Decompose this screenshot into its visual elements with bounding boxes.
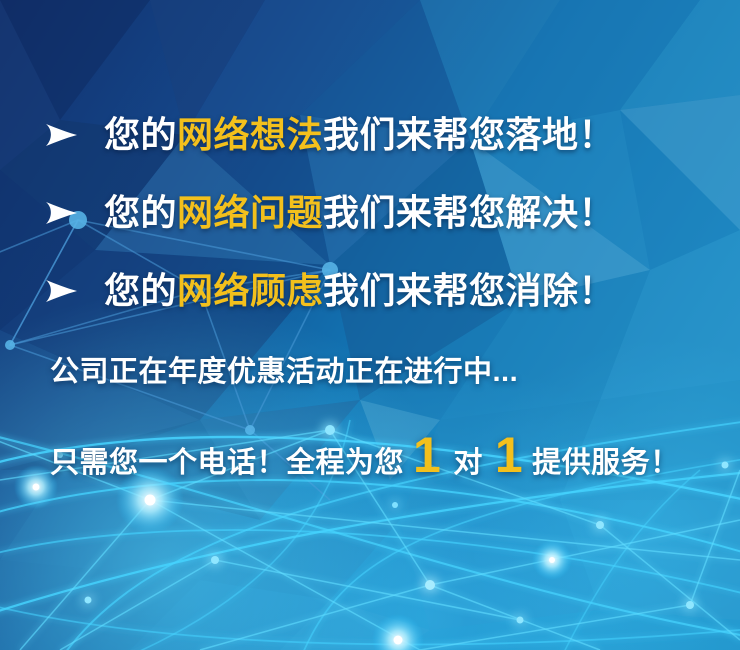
list-item: 您的网络想法我们来帮您落地！ [0,96,740,174]
arrow-right-icon [44,278,78,304]
promotion-headline: 公司正在年度优惠活动正在进行中... [50,358,740,387]
arrow-right-icon [44,122,78,148]
bullet-highlight: 网络顾虑 [177,270,323,311]
bullet-highlight: 网络想法 [177,114,323,155]
bullet-suffix: 我们来帮您消除！ [323,270,615,311]
bullet-prefix: 您的 [104,114,177,155]
banner-content: 您的网络想法我们来帮您落地！ 您的网络问题我们来帮您解决！ 您的网络顾虑我们来帮… [0,0,740,650]
promotion-service-text: 提供服务！ [532,449,680,478]
list-item: 您的网络顾虑我们来帮您消除！ [0,252,740,330]
promotion-block: 公司正在年度优惠活动正在进行中... 只需您一个电话！全程为您 1 对 1 提供… [50,358,740,480]
one-to-one-first-number: 1 [404,430,450,480]
bullet-highlight: 网络问题 [177,192,323,233]
promo-banner: 您的网络想法我们来帮您落地！ 您的网络问题我们来帮您解决！ 您的网络顾虑我们来帮… [0,0,740,650]
list-item: 您的网络问题我们来帮您解决！ [0,174,740,252]
one-to-one-connector: 对 [450,449,486,478]
benefits-list: 您的网络想法我们来帮您落地！ 您的网络问题我们来帮您解决！ 您的网络顾虑我们来帮… [0,96,740,330]
list-item-label: 您的网络想法我们来帮您落地！ [104,117,615,153]
one-to-one-second-number: 1 [486,430,532,480]
bullet-suffix: 我们来帮您解决！ [323,192,615,233]
bullet-prefix: 您的 [104,270,177,311]
promotion-call-text: 只需您一个电话！全程为您 [50,449,404,478]
list-item-label: 您的网络问题我们来帮您解决！ [104,195,615,231]
bullet-prefix: 您的 [104,192,177,233]
arrow-right-icon [44,200,78,226]
bullet-suffix: 我们来帮您落地！ [323,114,615,155]
list-item-label: 您的网络顾虑我们来帮您消除！ [104,273,615,309]
promotion-subline: 只需您一个电话！全程为您 1 对 1 提供服务！ [50,430,740,480]
